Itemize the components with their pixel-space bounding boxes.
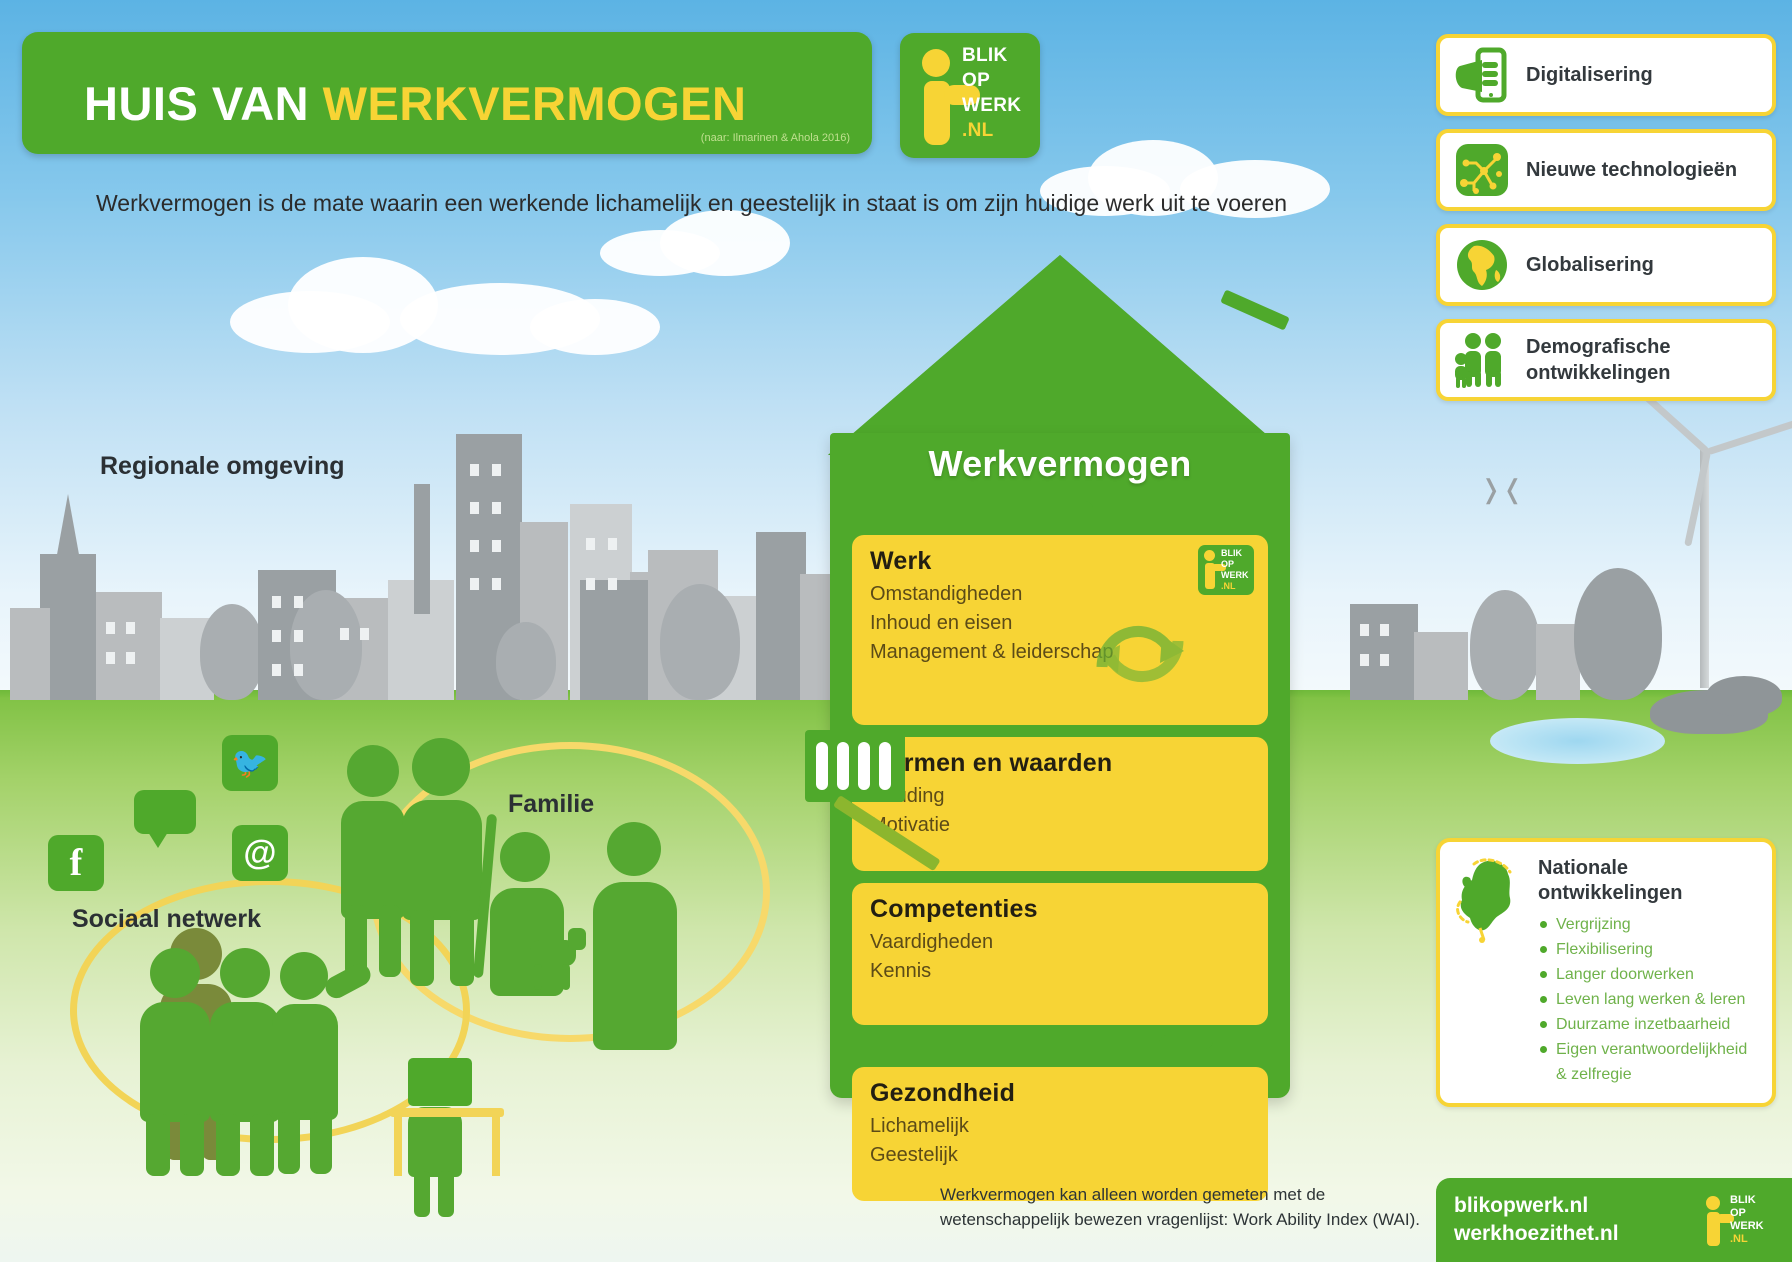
logo-line-4: .NL [962, 118, 1038, 143]
list-item: Duurzame inzetbaarheid [1538, 1012, 1758, 1037]
bush [1706, 676, 1782, 716]
facebook-icon[interactable]: f [48, 835, 104, 891]
page-title-plain: HUIS VAN [84, 77, 323, 130]
badge-line-3: WERK [1221, 570, 1253, 581]
trend-card-demografische-ontwikkelingen[interactable]: Demografische ontwikkelingen [1436, 319, 1776, 401]
house-floor-competenties[interactable]: Competenties Vaardigheden Kennis [852, 883, 1268, 1025]
floor-heading: Werk [870, 547, 1250, 576]
label-regionale-omgeving: Regionale omgeving [100, 452, 344, 481]
house-railing [805, 730, 905, 802]
trend-card-nieuwe-technologieen[interactable]: Nieuwe technologieën [1436, 129, 1776, 211]
blik-op-werk-logo[interactable]: BLIK OP WERK .NL [900, 33, 1040, 158]
badge-line-2: OP [1221, 559, 1253, 570]
at-sign-icon[interactable]: @ [232, 825, 288, 881]
subtitle-text: Werkvermogen is de mate waarin een werke… [96, 190, 1396, 217]
globe-icon [1452, 236, 1512, 294]
floor-line: Omstandigheden [870, 580, 1250, 609]
chat-bubble-icon[interactable] [134, 790, 196, 834]
title-citation: (naar: Ilmarinen & Ahola 2016) [701, 132, 850, 144]
netherlands-map-icon [1454, 856, 1528, 956]
national-title: Nationale ontwikkelingen [1538, 856, 1758, 906]
desk-leg [492, 1114, 500, 1176]
person-icon [914, 49, 962, 145]
badge-wordmark: BLIK OP WERK .NL [1221, 548, 1253, 592]
page-title-highlight: WERKVERMOGEN [323, 77, 747, 130]
family-group-icon [1452, 331, 1512, 389]
cycle-arrows-icon [1080, 607, 1200, 697]
floor-heading: Normen en waarden [870, 749, 1250, 778]
floor-heading: Competenties [870, 895, 1250, 924]
trend-card-digitalisering[interactable]: Digitalisering [1436, 34, 1776, 116]
list-item: Vergrijzing [1538, 912, 1758, 937]
header-title-bar: HUIS VAN WERKVERMOGEN (naar: Ilmarinen &… [22, 32, 872, 154]
bird-icon: ❭❬ [1480, 474, 1524, 505]
trend-card-globalisering[interactable]: Globalisering [1436, 224, 1776, 306]
city-skyline [0, 380, 920, 700]
house-floor-gezondheid[interactable]: Gezondheid Lichamelijk Geestelijk [852, 1067, 1268, 1201]
floor-line: Lichamelijk [870, 1112, 1250, 1141]
trend-label: Digitalisering [1526, 62, 1653, 88]
trend-card-list: Digitalisering [1436, 34, 1776, 414]
national-developments-card[interactable]: Nationale ontwikkelingen Vergrijzing Fle… [1436, 838, 1776, 1107]
desk-top [390, 1108, 504, 1117]
trend-label: Globalisering [1526, 252, 1654, 278]
footer-logo-line-3: WERK [1730, 1220, 1776, 1233]
trend-label: Nieuwe technologieën [1526, 157, 1737, 183]
list-item: Flexibilisering [1538, 937, 1758, 962]
logo-line-3: WERK [962, 93, 1038, 118]
twitter-icon[interactable]: 🐦 [222, 735, 278, 791]
list-item: Langer doorwerken [1538, 962, 1758, 987]
blik-op-werk-badge: BLIK OP WERK .NL [1198, 545, 1254, 595]
pond [1490, 718, 1665, 764]
infographic-canvas: ❭❬ HUIS VAN WERKVERMOGEN (naar: Ilmarine… [0, 0, 1792, 1262]
floor-line: Motivatie [870, 811, 1250, 840]
footer-logo-line-1: BLIK [1730, 1194, 1776, 1207]
badge-line-1: BLIK [1221, 548, 1253, 559]
footer-logo-line-4: .NL [1730, 1233, 1776, 1246]
trend-label: Demografische ontwikkelingen [1526, 334, 1760, 386]
floor-line: Houding [870, 782, 1250, 811]
list-item: Leven lang werken & leren [1538, 987, 1758, 1012]
house-floor-werk[interactable]: Werk Omstandigheden Inhoud en eisen Mana… [852, 535, 1268, 725]
footer-links: blikopwerk.nl werkhoezithet.nl [1454, 1192, 1619, 1248]
logo-line-1: BLIK [962, 43, 1038, 68]
page-title: HUIS VAN WERKVERMOGEN [84, 76, 746, 131]
footer-note: Werkvermogen kan alleen worden gemeten m… [940, 1182, 1460, 1232]
laptop-icon [408, 1058, 472, 1106]
footer-links-bar: blikopwerk.nl werkhoezithet.nl BLIK OP W… [1436, 1178, 1792, 1262]
floor-line: Vaardigheden [870, 928, 1250, 957]
footer-logo-line-2: OP [1730, 1207, 1776, 1220]
badge-line-4: .NL [1221, 581, 1253, 592]
logo-wordmark: BLIK OP WERK .NL [962, 43, 1038, 143]
house-roof [820, 255, 1400, 460]
floor-line: Geestelijk [870, 1141, 1250, 1170]
footer-link-blikopwerk[interactable]: blikopwerk.nl [1454, 1192, 1619, 1220]
floor-line: Kennis [870, 957, 1250, 986]
footer-link-werkhoezithet[interactable]: werkhoezithet.nl [1454, 1220, 1619, 1248]
footer-note-line-1: Werkvermogen kan alleen worden gemeten m… [940, 1182, 1460, 1207]
label-familie: Familie [508, 790, 594, 819]
list-item: Eigen verantwoordelijkheid & zelfregie [1538, 1037, 1758, 1087]
right-landscape [1330, 440, 1792, 700]
floor-heading: Gezondheid [870, 1079, 1250, 1108]
footer-note-line-2: wetenschappelijk bewezen vragenlijst: Wo… [940, 1207, 1460, 1232]
house-of-work-ability: Werkvermogen Werk Omstandigheden Inhoud … [830, 255, 1390, 1145]
smartphone-icon [1452, 46, 1512, 104]
house-title: Werkvermogen [830, 443, 1290, 485]
footer-logo-wordmark: BLIK OP WERK .NL [1730, 1194, 1776, 1246]
blik-op-werk-footer-logo[interactable]: BLIK OP WERK .NL [1704, 1192, 1778, 1248]
circuit-board-icon [1452, 141, 1512, 199]
label-sociaal-netwerk: Sociaal netwerk [72, 905, 261, 934]
desk-leg [394, 1114, 402, 1176]
logo-line-2: OP [962, 68, 1038, 93]
national-items-list: Vergrijzing Flexibilisering Langer doorw… [1538, 912, 1758, 1087]
